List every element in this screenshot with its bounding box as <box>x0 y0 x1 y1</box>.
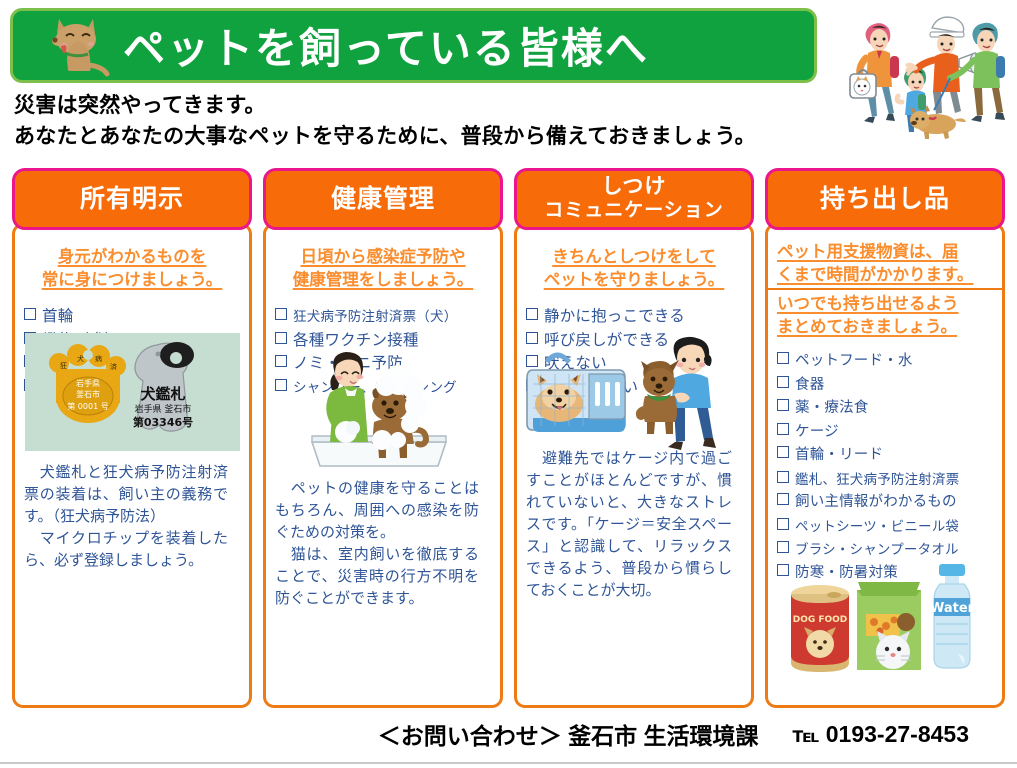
card-note: 避難先ではケージ内で過ごすことがほとんどですが、慣れていないと、大きなストレスで… <box>526 448 732 602</box>
lead-line-1: 災害は突然やってきます。 <box>14 90 944 121</box>
card-health-management: 健康管理 日頃から感染症予防や 健康管理をしましょう。 狂犬病予防注射済票（犬）… <box>263 168 503 708</box>
card-body-health-management: 日頃から感染症予防や 健康管理をしましょう。 狂犬病予防注射済票（犬） 各種ワク… <box>263 223 503 708</box>
card-header-ownership-display: 所有明示 <box>12 168 252 230</box>
checklist-item[interactable]: 首輪 <box>24 305 240 329</box>
card-header-line-1: しつけ <box>602 175 667 198</box>
checklist-item[interactable]: 狂犬病予防注射済票（犬） <box>275 305 491 329</box>
checkbox-icon[interactable] <box>275 308 287 320</box>
subtitle-line-2: 健康管理をしましょう。 <box>293 271 474 289</box>
cat-food-bag <box>857 582 921 670</box>
woman-washing-dog-illustration <box>304 344 454 472</box>
subtitle-line-2: くまで時間がかかります。 <box>777 266 973 284</box>
subtitle-line-1: ペット用支援物資は、届 <box>777 243 959 261</box>
footer-telephone: ℡ 0193-27-8453 <box>792 721 969 748</box>
pet-supplies-illustration: DOG FOOD <box>780 560 990 682</box>
checklist-item[interactable]: ペットフード・水 <box>777 350 993 374</box>
checklist-item[interactable]: 食器 <box>777 374 993 398</box>
card-header-emergency-supplies: 持ち出し品 <box>765 168 1005 230</box>
card-body-ownership-display: 身元がわかるものを 常に身につけましょう。 首輪 鑑札（犬） 狂犬病予防注射済票… <box>12 223 252 708</box>
checklist-item[interactable]: 首輪・リード <box>777 444 993 468</box>
banner-title: ペットを飼っている皆様へ <box>123 21 763 77</box>
subtitle-line-2: ペットを守りましょう。 <box>544 271 725 289</box>
card-header-label: 所有明示 <box>80 186 184 212</box>
checkbox-icon[interactable] <box>777 352 789 364</box>
checkbox-icon[interactable] <box>777 493 789 505</box>
svg-text:病: 病 <box>95 354 102 363</box>
card-header-label: しつけ コミュニケーション <box>544 175 724 223</box>
checkbox-icon[interactable] <box>777 471 789 483</box>
checkbox-icon[interactable] <box>526 308 538 320</box>
checklist-item-label: ペットシーツ・ビニール袋 <box>795 519 959 534</box>
card-subtitle: 身元がわかるものを 常に身につけましょう。 <box>24 246 240 292</box>
dog-food-can: DOG FOOD <box>791 585 849 672</box>
checkbox-icon[interactable] <box>777 376 789 388</box>
checklist-item-label: 鑑札、狂犬病予防注射済票 <box>795 472 959 487</box>
checkbox-icon[interactable] <box>777 518 789 530</box>
card-emergency-supplies: 持ち出し品 ペット用支援物資は、届 くまで時間がかかります。 いつでも持ち出せる… <box>765 168 1005 708</box>
card-subtitle: 日頃から感染症予防や 健康管理をしましょう。 <box>275 246 491 292</box>
svg-text:第03346号: 第03346号 <box>133 415 193 429</box>
svg-text:第 0001 号: 第 0001 号 <box>67 401 108 411</box>
svg-text:犬: 犬 <box>77 354 84 363</box>
card-subtitle-block-1: ペット用支援物資は、届 くまで時間がかかります。 <box>777 241 993 287</box>
checkbox-icon[interactable] <box>275 332 287 344</box>
banner-row: ペットを飼っている皆様へ <box>0 0 1017 90</box>
subtitle-line-2: 常に身につけましょう。 <box>42 271 223 289</box>
checklist-item-label: 首輪・リード <box>795 447 883 463</box>
svg-text:済: 済 <box>110 362 117 371</box>
checklist-item-label: 静かに抱っこできる <box>544 308 685 325</box>
checklist-item-label: 首輪 <box>42 308 73 325</box>
card-subtitle: きちんとしつけをして ペットを守りましょう。 <box>526 246 742 292</box>
checklist-item[interactable]: 静かに抱っこできる <box>526 305 742 329</box>
card-note: ペットの健康を守ることはもちろん、周囲への感染を防ぐための対策を。 猫は、室内飼… <box>275 478 479 610</box>
card-header-label: 持ち出し品 <box>820 186 950 212</box>
card-header-label: 健康管理 <box>331 186 435 212</box>
card-training-communication: しつけ コミュニケーション きちんとしつけをして ペットを守りましょう。 静かに… <box>514 168 754 708</box>
card-header-line-2: コミュニケーション <box>544 199 724 223</box>
checkbox-icon[interactable] <box>275 379 287 391</box>
checklist-item[interactable]: ブラシ・シャンプータオル <box>777 538 993 562</box>
checkbox-icon[interactable] <box>777 423 789 435</box>
svg-text:狂: 狂 <box>60 362 67 370</box>
card-ownership-display: 所有明示 身元がわかるものを 常に身につけましょう。 首輪 鑑札（犬） 狂犬病予… <box>12 168 252 708</box>
card-note: 犬鑑札と狂犬病予防注射済票の装着は、飼い主の義務です。（狂犬病予防法） マイクロ… <box>24 462 228 572</box>
footer: ＜お問い合わせ＞ 釜石市 生活環境課 ℡ 0193-27-8453 <box>0 714 1017 754</box>
checklist-item-label: 狂犬病予防注射済票（犬） <box>293 309 457 324</box>
dog-in-carrier-and-man-holding-dog-illustration <box>519 334 737 454</box>
checklist-item-label: 飼い主情報がわかるもの <box>795 494 957 510</box>
checklist-item-label: 薬・療法食 <box>795 400 869 416</box>
sitting-dog-icon <box>35 17 115 81</box>
lead-line-2: あなたとあなたの大事なペットを守るために、普段から備えておきましょう。 <box>14 121 944 152</box>
cards-container: 所有明示 身元がわかるものを 常に身につけましょう。 首輪 鑑札（犬） 狂犬病予… <box>0 168 1017 708</box>
checkbox-icon[interactable] <box>24 308 36 320</box>
checklist-item-label: ケージ <box>795 424 839 440</box>
checklist-item-label: ペットフード・水 <box>795 353 913 369</box>
svg-text:犬鑑札: 犬鑑札 <box>140 385 185 403</box>
water-bottle: Water <box>930 564 975 668</box>
pet-tags-photo: 狂 犬 病 済 岩手県 釜石市 第 0001 号 <box>25 333 240 451</box>
card-header-health-management: 健康管理 <box>263 168 503 230</box>
poster-root: ペットを飼っている皆様へ <box>0 0 1017 768</box>
checklist-item[interactable]: ケージ <box>777 421 993 445</box>
subtitle-line-1: 日頃から感染症予防や <box>301 248 466 266</box>
checklist-item[interactable]: 薬・療法食 <box>777 397 993 421</box>
checkbox-icon[interactable] <box>777 541 789 553</box>
footer-contact: ＜お問い合わせ＞ 釜石市 生活環境課 <box>378 717 759 751</box>
telephone-icon: ℡ <box>792 724 819 747</box>
card-subtitle-block-2: いつでも持ち出せるよう まとめておきましょう。 <box>777 293 993 339</box>
card-header-training-communication: しつけ コミュニケーション <box>514 168 754 230</box>
svg-text:Water: Water <box>930 601 975 616</box>
footer-telephone-number: 0193-27-8453 <box>826 721 969 747</box>
section-divider <box>768 288 1002 290</box>
subtitle-line-1: 身元がわかるものを <box>58 248 207 266</box>
footer-divider <box>0 762 1017 764</box>
checklist-emergency-supplies: ペットフード・水 食器 薬・療法食 ケージ 首輪・リード 鑑札、狂犬病予防注射済… <box>777 350 993 585</box>
svg-text:DOG FOOD: DOG FOOD <box>793 615 848 625</box>
checklist-item-label: ブラシ・シャンプータオル <box>795 542 959 557</box>
card-body-training-communication: きちんとしつけをして ペットを守りましょう。 静かに抱っこできる 呼び戻しができ… <box>514 223 754 708</box>
svg-text:岩手県 釜石市: 岩手県 釜石市 <box>135 403 192 415</box>
checkbox-icon[interactable] <box>275 355 287 367</box>
lead-text: 災害は突然やってきます。 あなたとあなたの大事なペットを守るために、普段から備え… <box>14 90 944 152</box>
card-body-emergency-supplies: ペット用支援物資は、届 くまで時間がかかります。 いつでも持ち出せるよう まとめ… <box>765 223 1005 708</box>
subtitle-line-3: いつでも持ち出せるよう <box>777 295 959 313</box>
checklist-item[interactable]: ペットシーツ・ビニール袋 <box>777 515 993 539</box>
subtitle-line-4: まとめておきましょう。 <box>777 318 957 336</box>
checkbox-icon[interactable] <box>777 446 789 458</box>
checklist-item[interactable]: 飼い主情報がわかるもの <box>777 491 993 515</box>
subtitle-line-1: きちんとしつけをして <box>552 248 716 266</box>
checklist-item[interactable]: 鑑札、狂犬病予防注射済票 <box>777 468 993 492</box>
title-banner: ペットを飼っている皆様へ <box>10 8 817 83</box>
checkbox-icon[interactable] <box>777 399 789 411</box>
svg-text:釜石市: 釜石市 <box>76 389 100 399</box>
checklist-item-label: 食器 <box>795 377 824 393</box>
svg-text:岩手県: 岩手県 <box>76 378 100 388</box>
